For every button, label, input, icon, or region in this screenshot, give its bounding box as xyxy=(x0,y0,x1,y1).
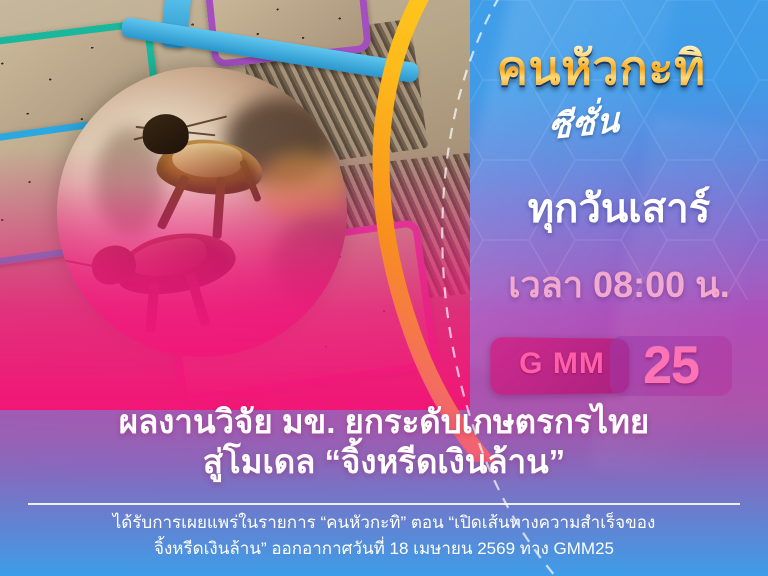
cricket-farm-photo xyxy=(0,0,470,410)
channel-number-text: 25 xyxy=(610,336,732,396)
caption-line-2: จิ้งหรีดเงินล้าน” ออกอากาศวันที่ 18 เมษา… xyxy=(40,536,728,562)
program-info-column: คนหัวกะทิ ซีซั่น ทุกวันเสาร์ เวลา 08:00 … xyxy=(470,0,768,410)
divider-line xyxy=(28,503,740,505)
poster-root: คนหัวกะทิ ซีซั่น ทุกวันเสาร์ เวลา 08:00 … xyxy=(0,0,768,576)
caption-line-1: ได้รับการเผยแพร่ในรายการ “คนหัวกะทิ” ตอน… xyxy=(40,510,728,536)
program-logo-title: คนหัวกะทิ xyxy=(446,44,756,91)
program-logo-script: ซีซั่น xyxy=(548,92,620,154)
headline-line-2: สู่โมเดล “จิ้งหรีดเงินล้าน” xyxy=(0,442,768,482)
headline: ผลงานวิจัย มข. ยกระดับเกษตรกรไทย สู่โมเด… xyxy=(0,402,768,483)
caption: ได้รับการเผยแพร่ในรายการ “คนหัวกะทิ” ตอน… xyxy=(40,510,728,563)
channel-logo: G MM 25 xyxy=(492,336,732,398)
airtime-time: เวลา 08:00 น. xyxy=(470,256,768,313)
airtime-day: ทุกวันเสาร์ xyxy=(470,176,768,240)
headline-line-1: ผลงานวิจัย มข. ยกระดับเกษตรกรไทย xyxy=(0,402,768,442)
